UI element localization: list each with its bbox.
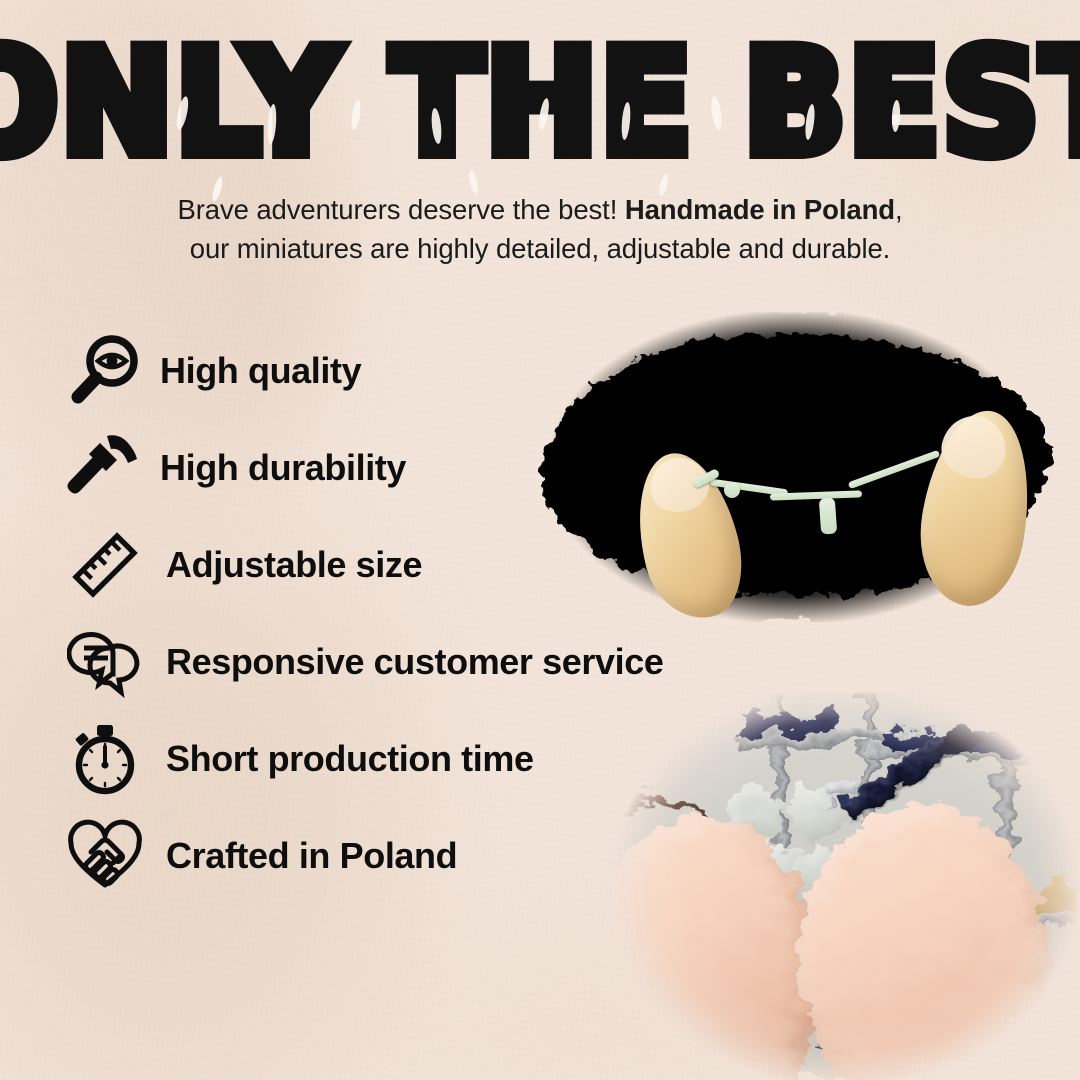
feature-label: Crafted in Poland	[166, 835, 457, 877]
speech-bubbles-icon	[62, 619, 148, 705]
torn-edge	[592, 692, 1080, 1080]
feature-label: Responsive customer service	[166, 641, 663, 683]
part-ring	[724, 482, 740, 498]
subtitle-line-1: Brave adventurers deserve the best! Hand…	[0, 190, 1080, 229]
miniature-tray	[744, 714, 840, 732]
workshop-painting-photo	[592, 692, 1080, 1080]
stopwatch-icon	[62, 716, 148, 802]
feature-label: High durability	[160, 447, 406, 489]
subtitle-text-bold: Handmade in Poland	[625, 194, 895, 225]
miniature	[902, 718, 922, 734]
part-dangle	[819, 497, 837, 534]
feature-label: Adjustable size	[166, 544, 422, 586]
subtitle-text-trail: ,	[895, 194, 903, 225]
ruler-icon	[62, 522, 148, 608]
promo-poster: ONLY THE BEST Brave adventurers deserve …	[0, 0, 1080, 1080]
miniature	[764, 702, 780, 716]
feature-label: High quality	[160, 350, 361, 392]
page-title: ONLY THE BEST	[0, 34, 1080, 172]
magnifier-eye-icon	[62, 328, 148, 414]
hammer-icon	[62, 425, 148, 511]
miniature	[796, 700, 814, 716]
subtitle: Brave adventurers deserve the best! Hand…	[0, 190, 1080, 268]
flexible-miniature-photo	[524, 312, 1064, 622]
handshake-heart-icon	[62, 813, 148, 899]
subtitle-text-lead: Brave adventurers deserve the best!	[177, 194, 624, 225]
headline-container: ONLY THE BEST	[0, 34, 1080, 147]
subtitle-line-2: our miniatures are highly detailed, adju…	[0, 229, 1080, 268]
feature-label: Short production time	[166, 738, 534, 780]
